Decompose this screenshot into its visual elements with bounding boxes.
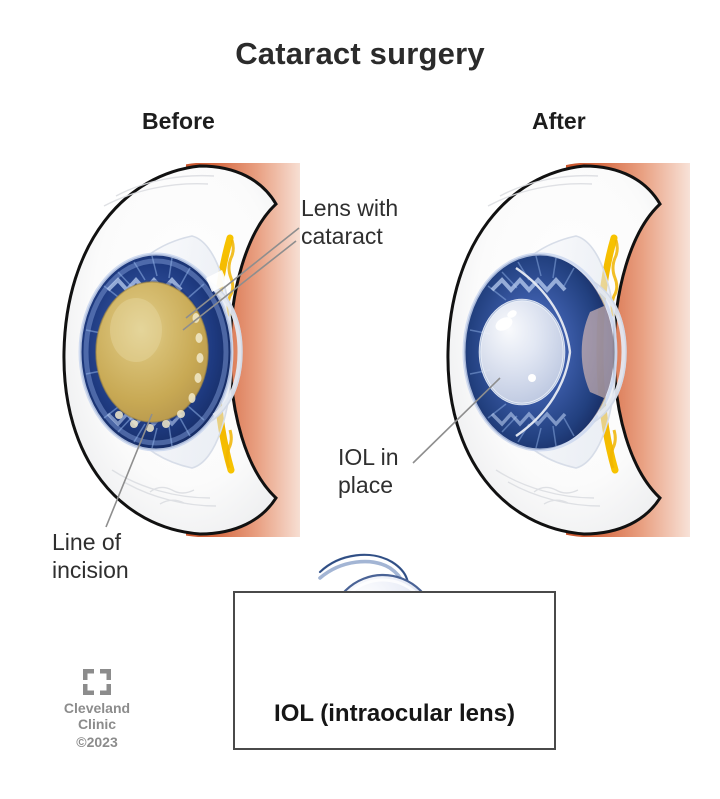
cleveland-clinic-mark-icon (82, 668, 112, 696)
illustration-page: Cataract surgery Before After (0, 0, 720, 799)
copyright-notice: ©2023 (42, 734, 152, 751)
iol-inset-caption: IOL (intraocular lens) (233, 700, 556, 728)
logo-wordmark: Cleveland Clinic (42, 700, 152, 732)
eye-before-group (64, 150, 336, 550)
eye-after-group (448, 150, 720, 550)
iol-in-eye (480, 300, 564, 404)
callout-line-of-incision: Line of incision (52, 528, 129, 584)
callout-lens-with-cataract: Lens with cataract (301, 194, 398, 250)
callout-iol-in-place: IOL in place (338, 443, 399, 499)
cleveland-clinic-logo: Cleveland Clinic ©2023 (42, 668, 152, 751)
